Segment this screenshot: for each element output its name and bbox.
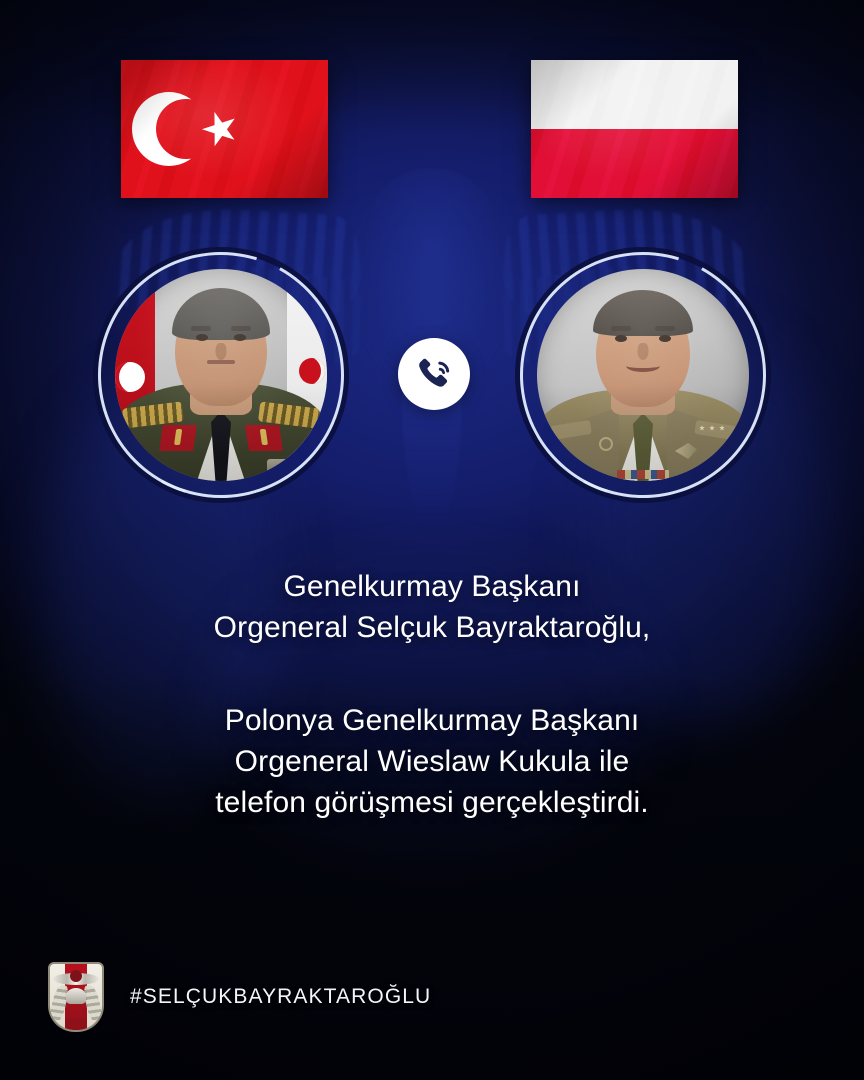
copy-block-2: Polonya Genelkurmay Başkanı Orgeneral Wi… [0, 700, 864, 823]
social-media-poster: Genelkurmay Başkanı Orgeneral Selçuk Bay… [0, 0, 864, 1080]
copy-block1-line1: Genelkurmay Başkanı [0, 566, 864, 607]
turkey-flag [121, 60, 328, 198]
poland-flag-red-band [531, 129, 738, 198]
emblem-wings-icon [53, 973, 99, 985]
turkey-crescent-icon [132, 92, 206, 166]
copy-block2-line2: Orgeneral Wieslaw Kukula ile [0, 741, 864, 782]
portrait-right [520, 252, 766, 498]
phone-call-badge [398, 338, 470, 410]
emblem-helmet-icon [66, 988, 86, 1004]
copy-block-1: Genelkurmay Başkanı Orgeneral Selçuk Bay… [0, 566, 864, 648]
copy-block2-line3: telefon görüşmesi gerçekleştirdi. [0, 782, 864, 823]
portrait-left [98, 252, 344, 498]
copy-block1-line2: Orgeneral Selçuk Bayraktaroğlu, [0, 607, 864, 648]
footer-hashtag: #SELÇUKBAYRAKTAROĞLU [130, 985, 431, 1009]
announcement-copy: Genelkurmay Başkanı Orgeneral Selçuk Bay… [0, 566, 864, 823]
emblem-shield-base [65, 1019, 88, 1030]
footer: #SELÇUKBAYRAKTAROĞLU [48, 962, 431, 1032]
copy-spacer [0, 648, 864, 700]
copy-block2-line1: Polonya Genelkurmay Başkanı [0, 700, 864, 741]
emblem-shield [48, 962, 104, 1032]
flag-row [0, 60, 864, 200]
turkish-general-staff-emblem-icon [48, 962, 104, 1032]
poland-flag-white-band [531, 60, 738, 129]
phone-call-icon [414, 354, 454, 394]
poland-flag [531, 60, 738, 198]
